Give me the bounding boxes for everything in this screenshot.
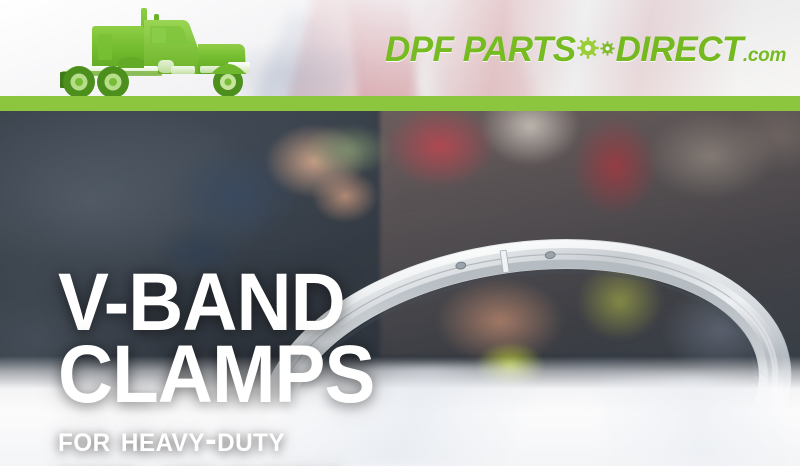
gear-icon xyxy=(577,37,599,59)
promo-banner: DPF PARTS xyxy=(0,0,800,466)
header-ghost-streak-icon xyxy=(245,9,364,96)
semi-truck-icon xyxy=(32,4,262,96)
logo-text-dpf-parts: DPF PARTS xyxy=(385,32,576,67)
gear-icon xyxy=(600,41,615,56)
table-reflection xyxy=(600,376,800,466)
logo-text-tld: .com xyxy=(743,46,786,65)
brand-logo[interactable]: DPF PARTS xyxy=(385,32,786,76)
gear-pair xyxy=(577,37,615,59)
subheadline-line-2: Diesel Applications xyxy=(58,458,343,466)
site-header: DPF PARTS xyxy=(0,0,800,96)
hero-subheadline: For Heavy-Duty Diesel Applications xyxy=(58,421,352,466)
green-accent-bar xyxy=(0,96,800,111)
hero-headline: V-BAND CLAMPS xyxy=(58,269,398,410)
headline-line-2: CLAMPS xyxy=(58,341,374,410)
headline-line-1: V-BAND xyxy=(58,269,374,338)
logo-text-direct: DIRECT xyxy=(616,32,743,67)
subheadline-line-1: For Heavy-Duty xyxy=(58,421,343,456)
hero-section: R.G.RAY KN230 xyxy=(0,111,800,466)
